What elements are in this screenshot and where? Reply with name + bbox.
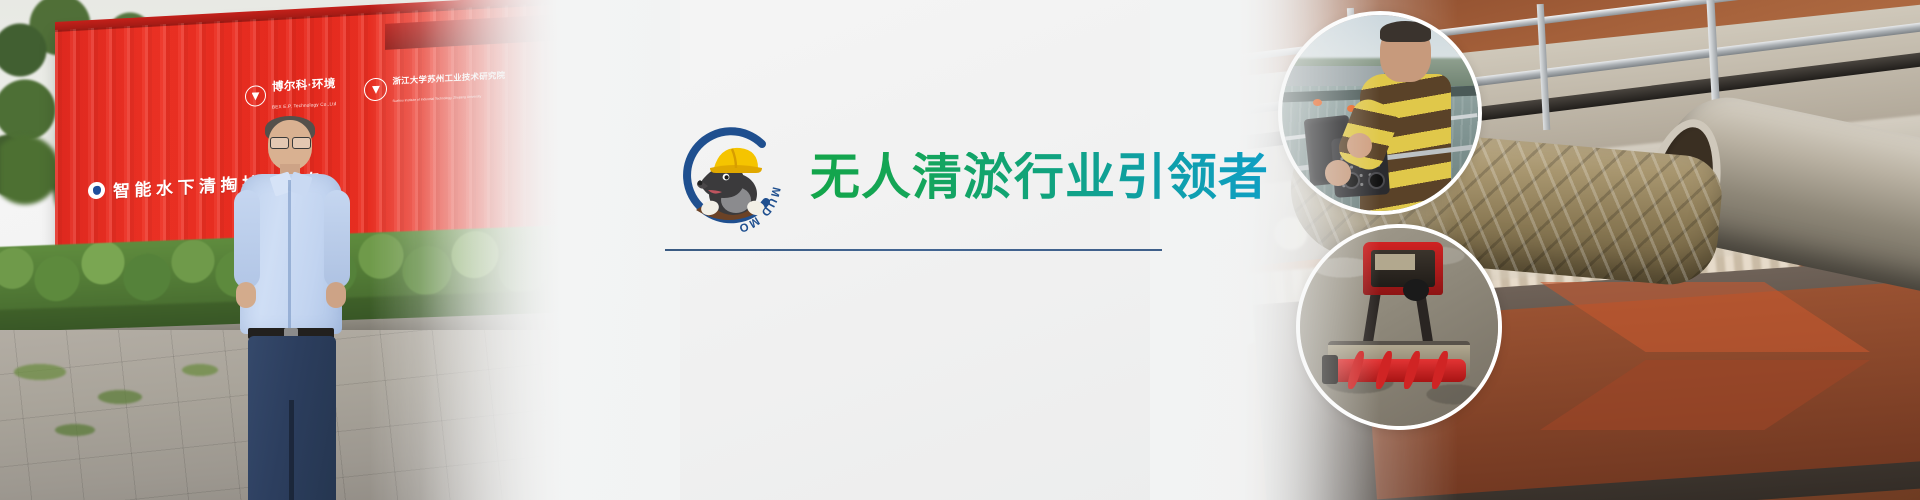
partner-name-en: Suzhou Institute of Industrial Technolog… <box>392 94 481 103</box>
hero-banner: 博尔科·环境 BEX E.P. Technology Co.,Ltd 浙江大学苏… <box>0 0 1920 500</box>
brand-seal-icon <box>245 85 266 107</box>
partner-seal-icon <box>364 78 387 102</box>
headline: 无人清淤行业引领者 <box>810 152 1269 202</box>
person-standing <box>232 120 352 500</box>
brand-name-cn: 博尔科·环境 <box>272 78 336 93</box>
headline-divider <box>665 249 1162 251</box>
circle-photo-operator <box>1278 11 1482 215</box>
container-brand-partner: 浙江大学苏州工业技术研究院 Suzhou Institute of Indust… <box>364 65 505 108</box>
brand-row: MUD MOLE 无人清淤行业引领者 <box>670 118 1269 236</box>
slogan-badge-icon <box>88 181 105 199</box>
circle-photo-dredging-robot <box>1296 224 1502 430</box>
container-brand-primary: 博尔科·环境 BEX E.P. Technology Co.,Ltd <box>245 74 336 115</box>
partner-name-cn: 浙江大学苏州工业技术研究院 <box>392 70 505 86</box>
brand-name-en: BEX E.P. Technology Co.,Ltd <box>272 101 336 109</box>
center-content: MUD MOLE 无人清淤行业引领者 <box>660 0 1180 500</box>
glasses-icon <box>270 137 311 147</box>
grass-patches <box>0 352 260 452</box>
mud-mole-logo: MUD MOLE <box>670 118 788 236</box>
joystick-right <box>1368 172 1385 189</box>
left-photo: 博尔科·环境 BEX E.P. Technology Co.,Ltd 浙江大学苏… <box>0 0 560 500</box>
